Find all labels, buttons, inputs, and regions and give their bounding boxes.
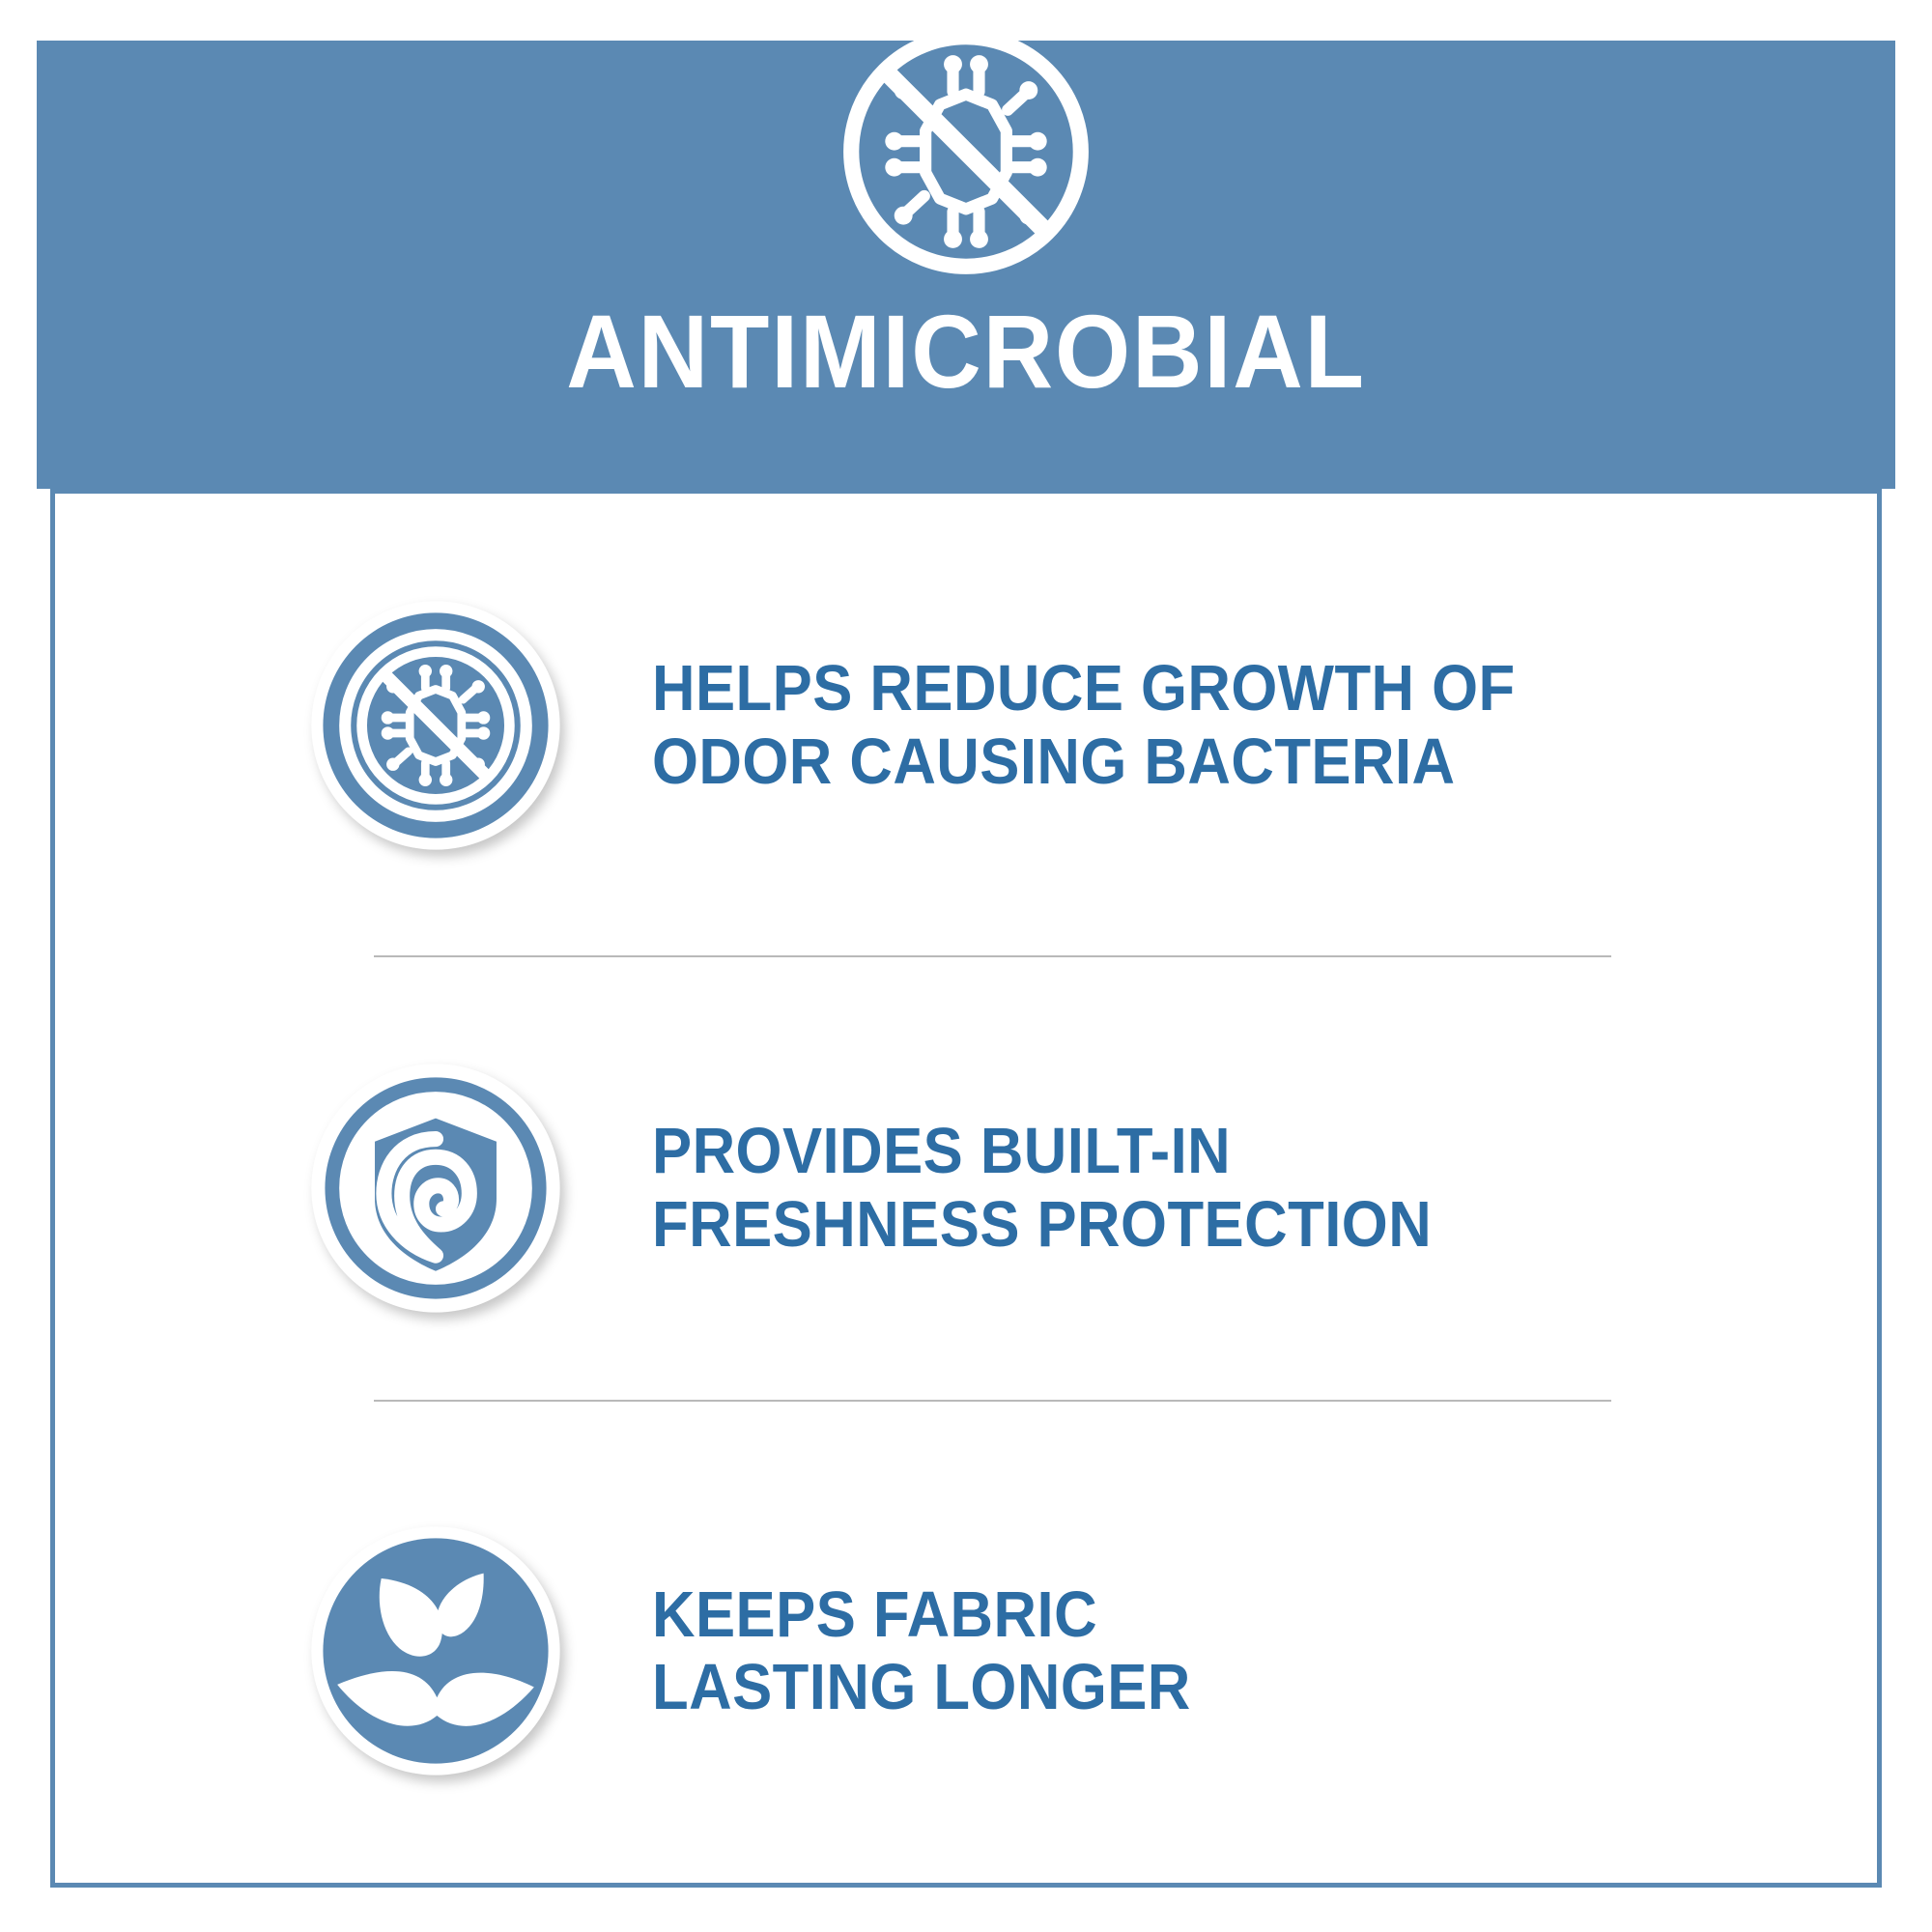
feature-line-3a: KEEPS FABRIC xyxy=(652,1578,1191,1652)
feature-text-3: KEEPS FABRIC LASTING LONGER xyxy=(652,1578,1191,1724)
leaf-sprout-icon xyxy=(306,1521,565,1780)
shield-spiral-icon xyxy=(306,1059,565,1318)
feature-row-3: KEEPS FABRIC LASTING LONGER xyxy=(55,1420,1877,1883)
feature-line-3b: LASTING LONGER xyxy=(652,1651,1191,1724)
features-list: HELPS REDUCE GROWTH OF ODOR CAUSING BACT… xyxy=(55,494,1877,1883)
no-virus-circle-icon xyxy=(306,596,565,855)
feature-text-2: PROVIDES BUILT-IN FRESHNESS PROTECTION xyxy=(652,1115,1432,1261)
header-band: ANTIMICROBIAL xyxy=(37,41,1895,489)
page-title: ANTIMICROBIAL xyxy=(101,299,1830,404)
feature-row-1: HELPS REDUCE GROWTH OF ODOR CAUSING BACT… xyxy=(55,494,1877,956)
features-panel: HELPS REDUCE GROWTH OF ODOR CAUSING BACT… xyxy=(50,489,1882,1888)
feature-line-1a: HELPS REDUCE GROWTH OF xyxy=(652,652,1516,725)
feature-line-2b: FRESHNESS PROTECTION xyxy=(652,1188,1432,1262)
feature-line-1b: ODOR CAUSING BACTERIA xyxy=(652,725,1516,799)
antimicrobial-poster: ANTIMICROBIAL xyxy=(0,0,1932,1932)
no-virus-icon xyxy=(836,21,1096,282)
feature-text-1: HELPS REDUCE GROWTH OF ODOR CAUSING BACT… xyxy=(652,652,1516,798)
feature-row-2: PROVIDES BUILT-IN FRESHNESS PROTECTION xyxy=(55,956,1877,1419)
feature-line-2a: PROVIDES BUILT-IN xyxy=(652,1115,1432,1188)
